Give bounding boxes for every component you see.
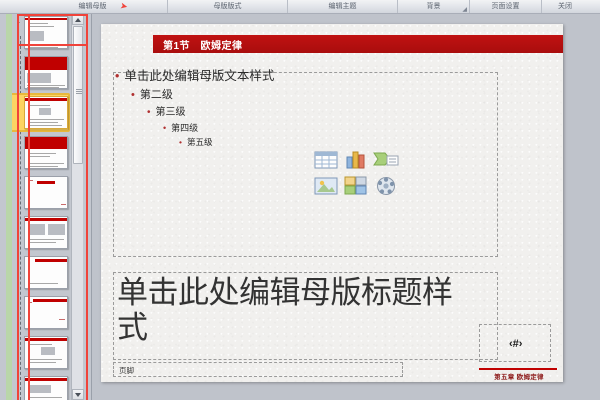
ribbon-group-label: 页面设置	[492, 3, 520, 11]
smartart-icon[interactable]	[373, 149, 399, 171]
list-item[interactable]	[24, 296, 68, 329]
master-text-level-4[interactable]: •第四级	[163, 122, 577, 134]
annotation-arrow-icon: ➤	[119, 0, 129, 12]
ribbon-group-label: 背景	[427, 3, 441, 11]
list-item[interactable]	[24, 336, 68, 369]
ribbon-group-page-setup[interactable]: 页面设置	[470, 0, 542, 14]
thumbnail-slide-7[interactable]	[24, 256, 68, 289]
master-text-level-5[interactable]: •第五级	[179, 137, 577, 148]
thumbnail-slide-6[interactable]	[24, 216, 68, 249]
thumbnail-slide-3-selected[interactable]	[24, 96, 68, 129]
ribbon-group-label: 关闭	[558, 3, 572, 11]
ribbon-group-edit-master[interactable]: 编辑母版	[18, 0, 168, 14]
thumbnail-slide-10[interactable]	[24, 376, 68, 400]
master-text-level-3[interactable]: •第三级	[147, 106, 577, 120]
footer-text[interactable]: 页脚	[119, 365, 134, 376]
slide-editing-area[interactable]: 第1节 欧姆定律 •单击此处编辑母版文本样式 •第二级 •第三级 •第四级 •第…	[92, 14, 600, 400]
annotation-line-inner	[28, 14, 30, 400]
thumbnail-slide-9[interactable]	[24, 336, 68, 369]
level-3-text: 第三级	[156, 107, 186, 118]
list-item[interactable]	[24, 176, 68, 209]
dialog-launcher-icon[interactable]: ◢	[462, 6, 467, 13]
ribbon-group-label: 编辑主题	[329, 3, 357, 11]
thumbnail-slide-4[interactable]	[24, 136, 68, 169]
content-placeholder-icons	[313, 149, 401, 199]
scrollbar-grip-icon	[76, 89, 82, 94]
thumbnail-strip: 1	[6, 14, 68, 400]
list-item[interactable]	[24, 256, 68, 289]
table-icon[interactable]	[313, 149, 339, 171]
scroll-down-arrow-icon[interactable]	[72, 389, 84, 400]
slide-canvas[interactable]: 第1节 欧姆定律 •单击此处编辑母版文本样式 •第二级 •第三级 •第四级 •第…	[101, 24, 563, 382]
master-text-level-2[interactable]: •第二级	[131, 88, 577, 103]
bullet-icon: •	[163, 123, 166, 133]
annotation-line-right	[86, 14, 88, 400]
annotation-line-box-bottom	[17, 44, 88, 46]
thumbnail-scrollbar[interactable]	[71, 14, 83, 400]
ribbon-group-label: 母版版式	[214, 3, 242, 11]
annotation-line-top	[17, 14, 88, 16]
list-item[interactable]	[24, 96, 68, 129]
thumbnail-slide-5[interactable]	[24, 176, 68, 209]
ribbon-toolbar[interactable]: 编辑母版 母版版式 编辑主题 背景 ◢ 页面设置 关闭	[0, 0, 600, 14]
bullet-icon: •	[115, 69, 119, 83]
list-item[interactable]	[24, 56, 68, 89]
thumbnail-rail	[20, 36, 21, 400]
list-item[interactable]	[24, 216, 68, 249]
bullet-icon: •	[179, 137, 182, 147]
clipart-icon[interactable]	[343, 175, 369, 197]
annotation-line-left	[17, 14, 19, 400]
level-4-text: 第四级	[171, 123, 198, 133]
section-title-text: 第1节 欧姆定律	[163, 37, 243, 52]
level-1-text: 单击此处编辑母版文本样式	[124, 69, 274, 83]
thumbnail-slide-8[interactable]	[24, 296, 68, 329]
footer-rule-divider	[479, 368, 557, 370]
ribbon-group-close[interactable]: 关闭	[542, 0, 588, 14]
ribbon-group-edit-theme[interactable]: 编辑主题	[288, 0, 398, 14]
master-text-level-1[interactable]: •单击此处编辑母版文本样式	[115, 68, 577, 85]
ribbon-group-background[interactable]: 背景 ◢	[398, 0, 470, 14]
footer-placeholder[interactable]	[113, 362, 403, 377]
ribbon-group-label: 编辑母版	[79, 3, 107, 11]
chapter-label: 第五章 欧姆定律	[479, 371, 559, 381]
bullet-icon: •	[131, 89, 135, 101]
ribbon-group-master-layout[interactable]: 母版版式	[168, 0, 288, 14]
scrollbar-thumb[interactable]	[73, 26, 83, 164]
list-item[interactable]	[24, 136, 68, 169]
chart-icon[interactable]	[343, 149, 369, 171]
level-5-text: 第五级	[187, 137, 213, 147]
level-2-text: 第二级	[140, 89, 173, 101]
slide-number-text[interactable]: ‹#›	[509, 338, 522, 350]
slide-thumbnail-panel[interactable]: 1	[0, 14, 92, 400]
master-text-levels: •单击此处编辑母版文本样式 •第二级 •第三级 •第四级 •第五级	[115, 68, 577, 149]
section-title-banner[interactable]: 第1节 欧姆定律	[153, 35, 563, 53]
media-icon[interactable]	[373, 175, 399, 197]
picture-icon[interactable]	[313, 175, 339, 197]
list-item[interactable]	[24, 376, 68, 400]
annotation-green-marker	[6, 14, 12, 400]
master-title-text[interactable]: 单击此处编辑母版标题样式	[117, 276, 477, 345]
bullet-icon: •	[147, 107, 151, 118]
thumbnail-slide-2[interactable]	[24, 56, 68, 89]
